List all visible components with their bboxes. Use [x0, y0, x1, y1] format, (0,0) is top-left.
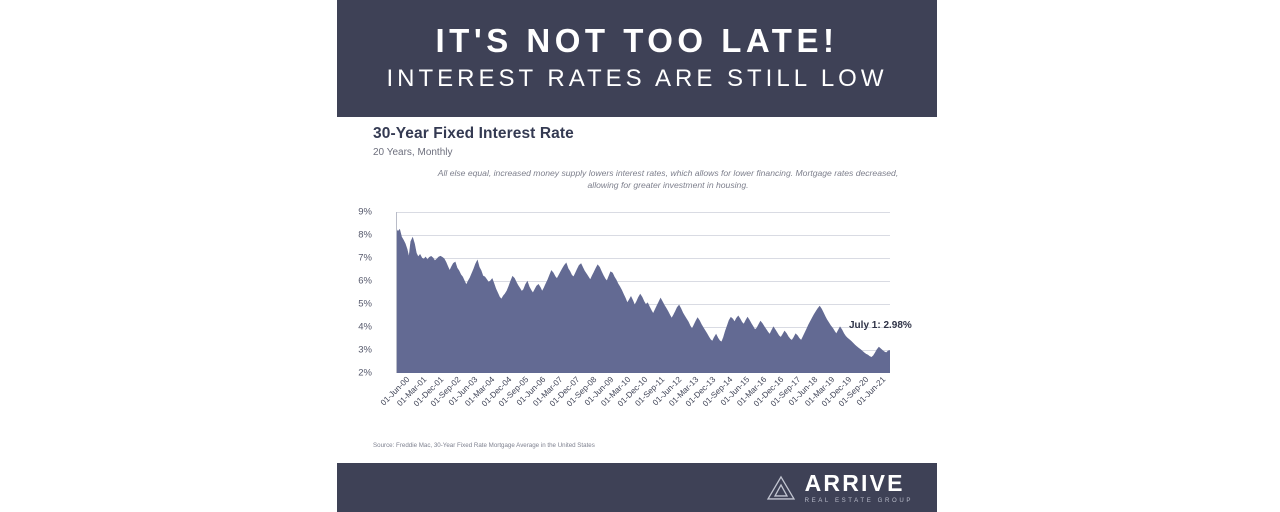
latest-value-label: July 1: 2.98% — [849, 320, 912, 331]
logo-tagline: REAL ESTATE GROUP — [805, 497, 913, 503]
chart-panel: 30-Year Fixed Interest Rate 20 Years, Mo… — [337, 117, 937, 463]
y-axis-tick: 8% — [342, 230, 372, 241]
y-axis-tick: 2% — [342, 368, 372, 379]
headline: IT'S NOT TOO LATE! — [436, 24, 839, 59]
chart-svg — [396, 212, 890, 373]
source-note: Source: Freddie Mac, 30-Year Fixed Rate … — [373, 442, 595, 449]
area-chart — [396, 212, 890, 373]
logo-name: ARRIVE — [805, 471, 905, 494]
arrive-logo: ARRIVE REAL ESTATE GROUP — [766, 471, 913, 503]
y-axis-tick: 3% — [342, 345, 372, 356]
infographic-canvas: IT'S NOT TOO LATE! INTEREST RATES ARE ST… — [0, 0, 1280, 512]
y-axis-tick: 9% — [342, 207, 372, 218]
triangle-logo-icon — [766, 474, 796, 502]
y-axis-tick: 6% — [342, 276, 372, 287]
x-axis-labels: 01-Jun-0001-Mar-0101-Dec-0101-Sep-0201-J… — [396, 375, 890, 435]
header-banner: IT'S NOT TOO LATE! INTEREST RATES ARE ST… — [337, 0, 937, 117]
y-axis-tick: 7% — [342, 253, 372, 264]
plot-wrapper: 2%3%4%5%6%7%8%9% 01-Jun-0001-Mar-0101-De… — [337, 117, 937, 463]
y-axis-tick: 4% — [342, 322, 372, 333]
y-axis-tick: 5% — [342, 299, 372, 310]
subheadline: INTEREST RATES ARE STILL LOW — [387, 66, 888, 92]
footer-banner: ARRIVE REAL ESTATE GROUP — [337, 463, 937, 512]
